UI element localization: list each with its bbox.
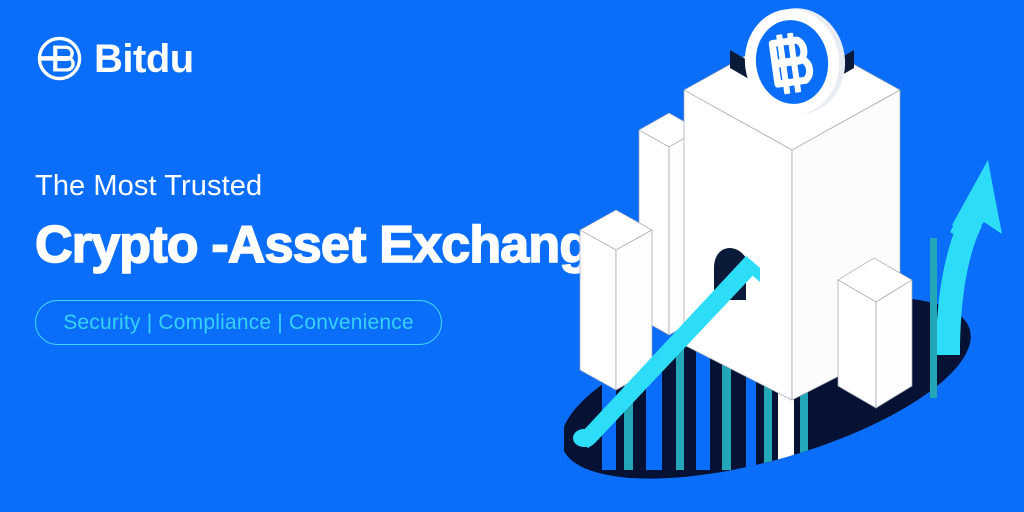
hero-illustration [564,0,1024,512]
bar-small-left [580,210,652,390]
isometric-bar-chart-with-bitcoin-coin-graphic [564,0,1024,512]
features-pill-label: Security | Compliance | Convenience [63,312,414,333]
features-pill[interactable]: Security | Compliance | Convenience [35,300,442,345]
bar-small-right [838,258,912,408]
eyebrow-text: The Most Trusted [35,172,655,201]
promo-banner: Bitdu The Most Trusted Crypto -Asset Exc… [0,0,1024,512]
page-title: Crypto -Asset Exchange [35,219,655,271]
teal-drip-line [930,238,937,398]
bitdu-circle-b-logo-icon [36,35,83,82]
brand-wordmark: Bitdu [94,39,194,79]
brand-logo[interactable]: Bitdu [36,33,194,83]
headline-block: The Most Trusted Crypto -Asset Exchange [35,172,655,271]
